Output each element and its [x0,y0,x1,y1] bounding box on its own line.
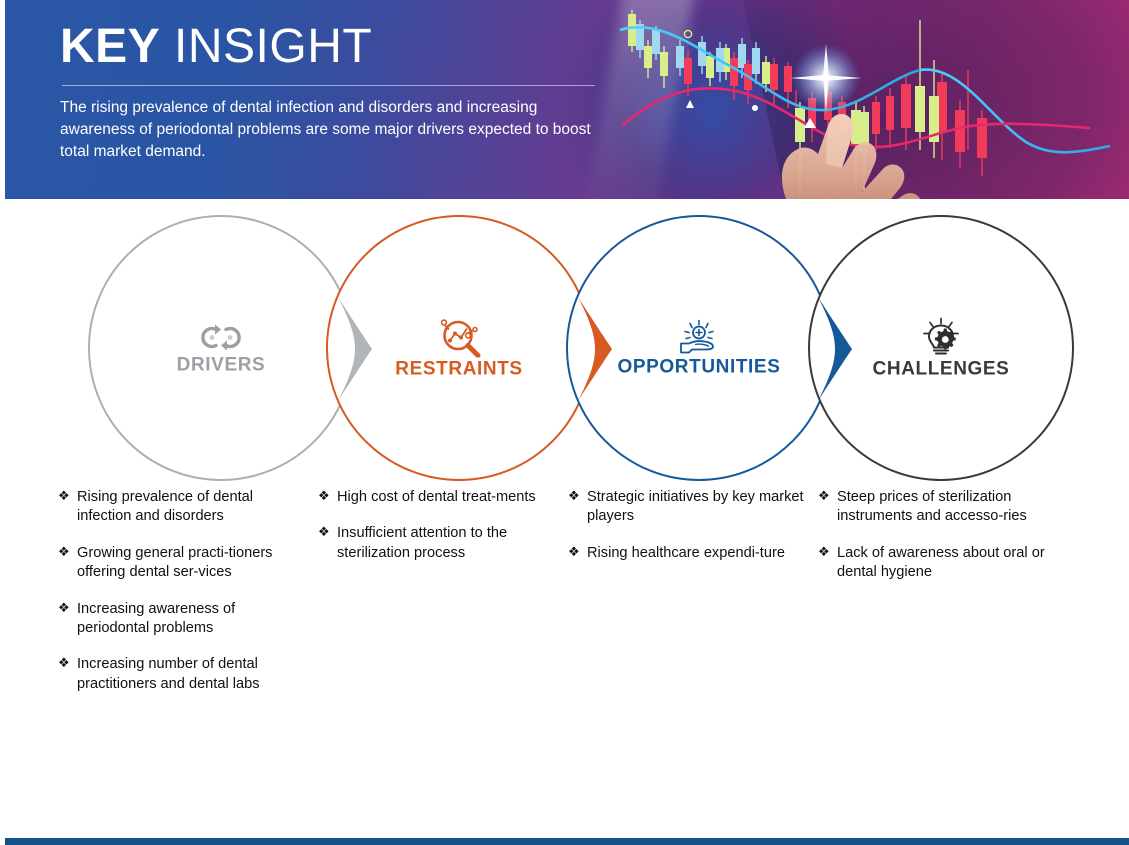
page-title-light: INSIGHT [160,20,372,73]
drivers-bullet-list: ❖Rising prevalence of dental infection a… [58,488,304,694]
stage-drivers[interactable]: DRIVERS [88,215,354,481]
list-item: ❖Strategic initiatives by key market pla… [568,488,814,527]
header-text-block: KEY INSIGHT The rising prevalence of den… [60,22,620,163]
list-item: ❖Lack of awareness about oral or dental … [818,544,1064,583]
column-challenges: ❖Steep prices of sterilization instrumen… [818,488,1064,600]
list-item-text: Increasing number of dental practitioner… [77,656,260,691]
column-opportunities: ❖Strategic initiatives by key market pla… [568,488,814,580]
list-item: ❖Increasing awareness of periodontal pro… [58,600,304,639]
hand-holding-idea-icon [675,320,723,356]
arrow-drivers-to-restraints [336,297,374,401]
list-item: ❖Rising healthcare expendi-ture [568,544,814,563]
page-title: KEY INSIGHT [60,22,620,73]
list-item: ❖Growing general practi-tioners offering… [58,544,304,583]
bullet-glyph: ❖ [818,487,830,504]
key-insight-header: KEY INSIGHT The rising prevalence of den… [5,0,1129,199]
bullet-glyph: ❖ [318,487,330,504]
header-subtitle: The rising prevalence of dental infectio… [60,97,595,163]
stage-circles-row: DRIVERS RESTRAINTS [0,199,1129,499]
arrow-restraints-to-opportunities [576,297,614,401]
stage-label-drivers: DRIVERS [88,356,354,375]
bullet-glyph: ❖ [568,543,580,560]
list-item-text: Strategic initiatives by key market play… [587,489,804,524]
restraints-bullet-list: ❖High cost of dental treat-ments ❖Insuff… [318,488,564,563]
column-drivers: ❖Rising prevalence of dental infection a… [58,488,304,711]
list-item-text: Rising prevalence of dental infection an… [77,489,253,524]
list-item-text: Steep prices of sterilization instrument… [837,489,1027,524]
column-restraints: ❖High cost of dental treat-ments ❖Insuff… [318,488,564,580]
list-item-text: Insufficient attention to the sterilizat… [337,525,507,560]
list-item: ❖Increasing number of dental practitione… [58,655,304,694]
magnifier-chart-icon [435,318,483,358]
bullet-glyph: ❖ [58,654,70,671]
bullet-glyph: ❖ [58,487,70,504]
list-item-text: Increasing awareness of periodontal prob… [77,601,235,636]
opportunities-bullet-list: ❖Strategic initiatives by key market pla… [568,488,814,563]
list-item-text: Rising healthcare expendi-ture [587,545,785,561]
bullet-columns: ❖Rising prevalence of dental infection a… [0,488,1129,788]
bullet-glyph: ❖ [568,487,580,504]
lightbulb-gear-icon [918,318,964,358]
list-item: ❖Rising prevalence of dental infection a… [58,488,304,527]
list-item: ❖Steep prices of sterilization instrumen… [818,488,1064,527]
footer-accent-bar [5,838,1129,845]
list-item-text: Lack of awareness about oral or dental h… [837,545,1045,580]
list-item-text: Growing general practi-tioners offering … [77,545,272,580]
bullet-glyph: ❖ [318,523,330,540]
bullet-glyph: ❖ [818,543,830,560]
stock-chart-artwork [590,0,1129,199]
list-item-text: High cost of dental treat-ments [337,489,536,505]
cycle-arrows-icon [199,322,243,354]
page-title-bold: KEY [60,20,160,73]
challenges-bullet-list: ❖Steep prices of sterilization instrumen… [818,488,1064,583]
bullet-glyph: ❖ [58,543,70,560]
title-divider [62,85,595,86]
list-item: ❖High cost of dental treat-ments [318,488,564,507]
list-item: ❖Insufficient attention to the steriliza… [318,524,564,563]
bullet-glyph: ❖ [58,599,70,616]
arrow-opportunities-to-challenges [816,297,854,401]
